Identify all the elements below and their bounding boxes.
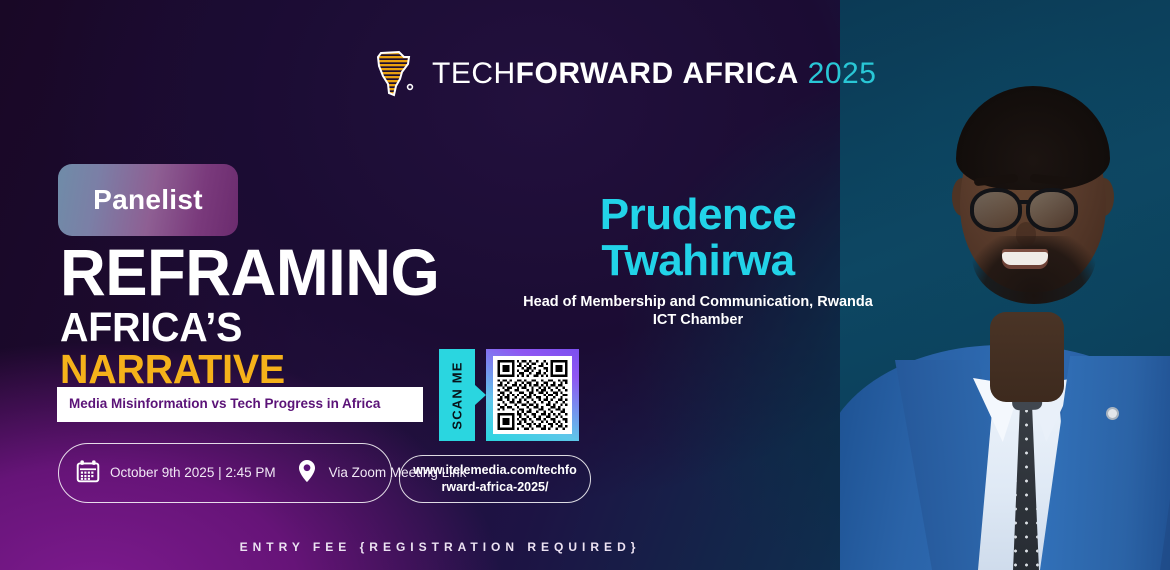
- topic-text: Media Misinformation vs Tech Progress in…: [69, 395, 411, 413]
- calendar-icon: [75, 458, 101, 489]
- event-url[interactable]: www.itelemedia.com/techforward-africa-20…: [412, 462, 578, 496]
- neck: [990, 312, 1064, 402]
- qr-section: SCAN ME: [439, 349, 579, 441]
- headline-narrative: NARRATIVE: [60, 346, 285, 392]
- event-banner: TECHFORWARD AFRICA 2025 Panelist REFRAMI…: [0, 0, 1170, 570]
- scan-me-label: SCAN ME: [450, 361, 465, 429]
- date-detail: October 9th 2025 | 2:45 PM: [75, 458, 276, 489]
- headline: REFRAMING AFRICA’S NARRATIVE: [60, 242, 480, 390]
- eyeglasses-lens-left: [970, 188, 1022, 232]
- mouth: [1002, 252, 1048, 265]
- eyeglasses-lens-right: [1026, 188, 1078, 232]
- eyeglasses-bridge: [1020, 200, 1030, 204]
- speaker-name-line-1: Prudence: [520, 192, 876, 238]
- logo-part-africa: AFRICA: [682, 57, 798, 90]
- speaker-name-line-2: Twahirwa: [520, 238, 876, 284]
- footer: ENTRY FEE {REGISTRATION REQUIRED}: [0, 538, 880, 556]
- headline-line-1: REFRAMING: [60, 242, 463, 303]
- headline-line-2: AFRICA’S NARRATIVE: [60, 307, 463, 391]
- topic-box: Media Misinformation vs Tech Progress in…: [57, 387, 423, 422]
- event-date: October 9th 2025 | 2:45 PM: [110, 464, 276, 482]
- event-logo: TECHFORWARD AFRICA 2025: [368, 48, 876, 100]
- event-url-pill[interactable]: www.itelemedia.com/techforward-africa-20…: [399, 455, 591, 503]
- panelist-badge-label: Panelist: [93, 184, 203, 216]
- speaker-info: Prudence Twahirwa Head of Membership and…: [520, 192, 876, 330]
- logo-year: 2025: [808, 57, 877, 90]
- logo-wordmark: TECHFORWARD AFRICA 2025: [432, 59, 876, 89]
- qr-code[interactable]: [493, 356, 572, 434]
- scan-me-tab: SCAN ME: [439, 349, 475, 441]
- scan-me-arrow-icon: [475, 385, 486, 405]
- event-details-pill: October 9th 2025 | 2:45 PM Via Zoom Meet…: [58, 443, 392, 503]
- qr-code-frame[interactable]: [486, 349, 579, 441]
- panelist-badge: Panelist: [58, 164, 238, 236]
- lapel-pin: [1108, 409, 1117, 418]
- entry-fee-note: ENTRY FEE {REGISTRATION REQUIRED}: [240, 540, 641, 554]
- speaker-role: Head of Membership and Communication, Rw…: [520, 293, 876, 330]
- beard: [972, 236, 1096, 304]
- location-pin-icon: [294, 458, 320, 489]
- africa-map-icon: [368, 48, 420, 100]
- speaker-portrait: [840, 0, 1170, 570]
- logo-part-tech: TECH: [432, 57, 516, 90]
- headline-africas: AFRICA’S: [60, 304, 242, 350]
- logo-part-forward: FORWARD: [516, 57, 674, 90]
